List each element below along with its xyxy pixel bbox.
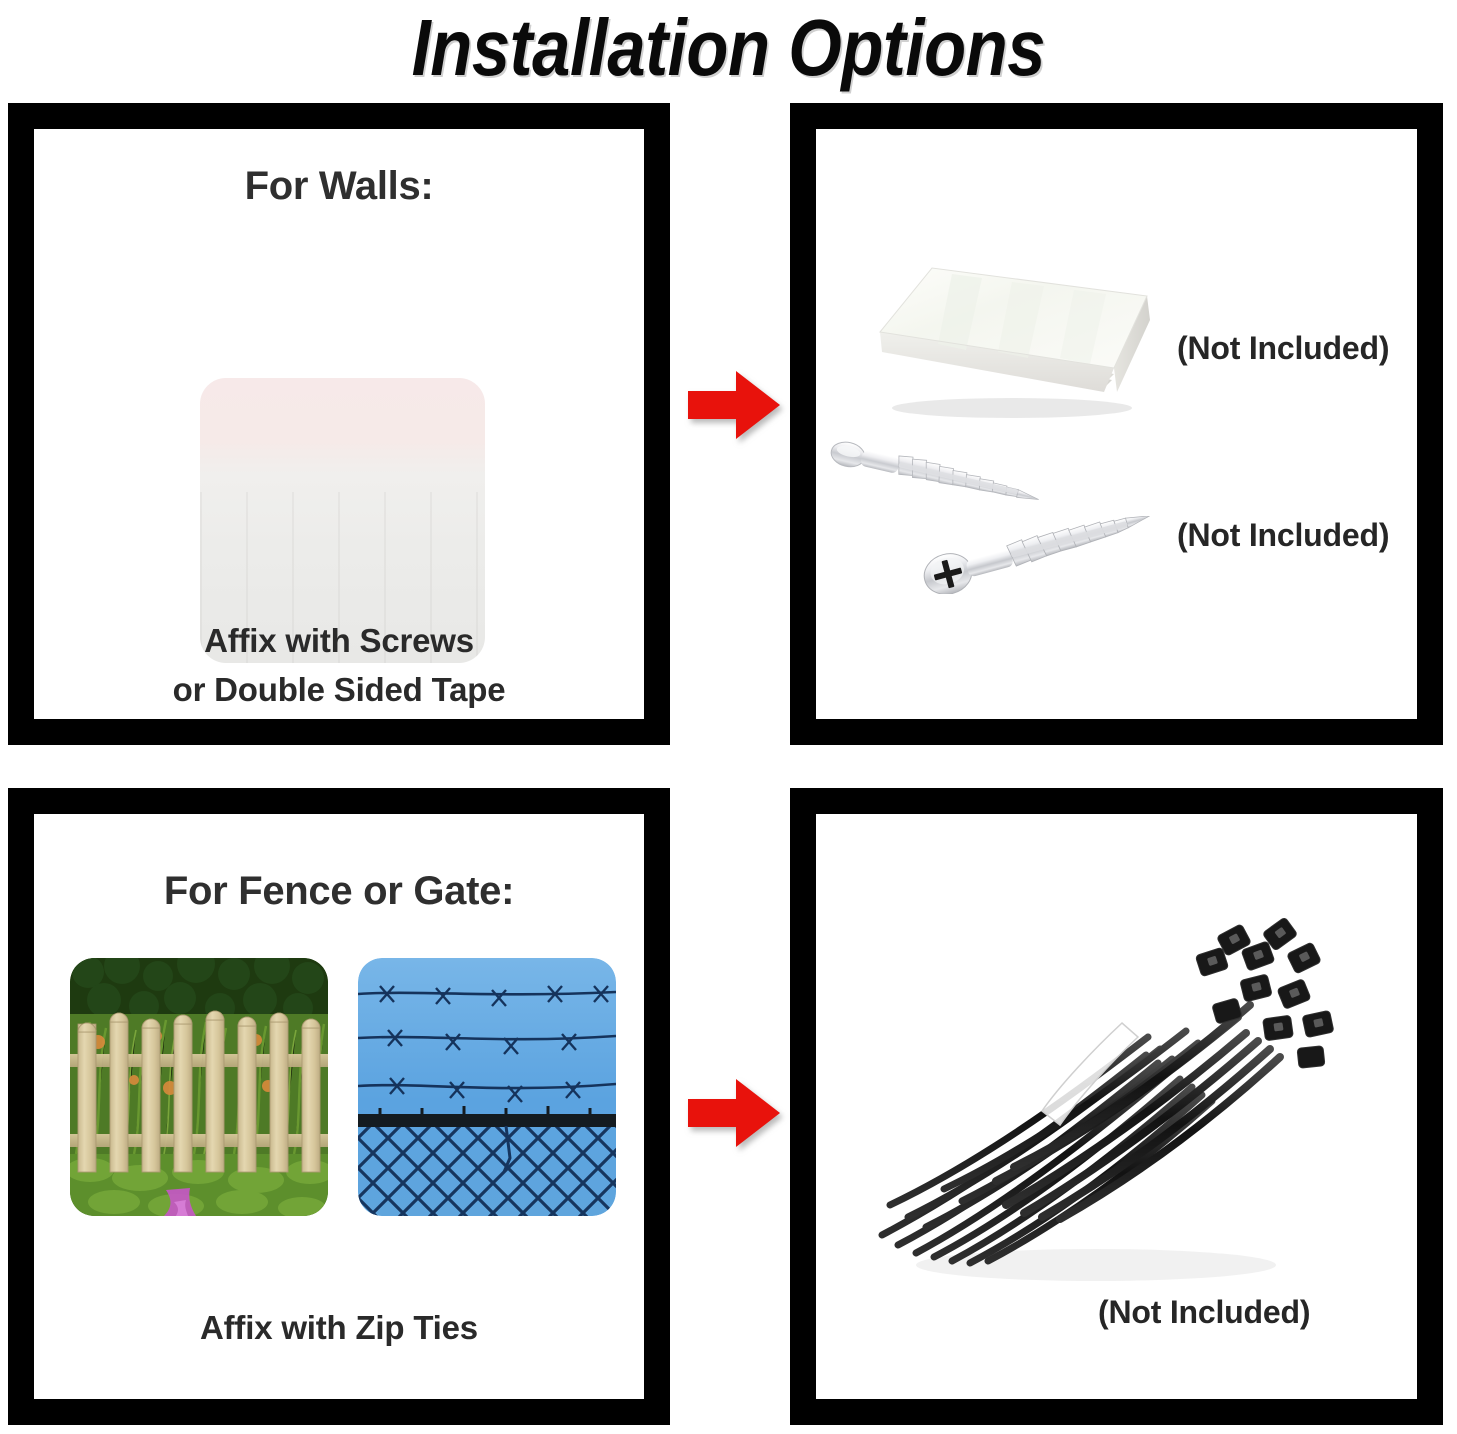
wooden-picket-fence-image: [70, 958, 328, 1216]
panel-heading-for-fence-or-gate: For Fence or Gate:: [34, 869, 644, 914]
chain-link-fence-image: [358, 958, 616, 1216]
caption-affix-with-screws: Affix with Screws: [34, 617, 644, 665]
panel-wall-hardware: [790, 103, 1443, 745]
page-title: Installation Options: [412, 8, 1046, 88]
panel-wall-hardware-content: [816, 129, 1417, 719]
panel-for-walls: For Walls: Affix with Screws or Double S…: [8, 103, 670, 745]
note-screws-not-included: (Not Included): [1177, 517, 1389, 554]
black-zip-ties-bundle-image: [846, 905, 1338, 1295]
wood-screw-phillips-image: [916, 516, 1162, 594]
note-tape-not-included: (Not Included): [1177, 330, 1389, 367]
panel-heading-for-walls: For Walls:: [34, 164, 644, 209]
page-header: Installation Options: [0, 0, 1457, 95]
wood-screw-image: [826, 436, 1064, 506]
double-sided-tape-stack-image: [862, 232, 1154, 420]
arrow-right-red-icon: [688, 369, 780, 441]
arrow-right-red-icon-2: [688, 1077, 780, 1149]
panel-for-walls-content: For Walls: Affix with Screws or Double S…: [34, 129, 644, 719]
caption-affix-with-zip-ties: Affix with Zip Ties: [34, 1304, 644, 1352]
note-zip-ties-not-included: (Not Included): [1098, 1294, 1310, 1331]
caption-or-double-sided-tape: or Double Sided Tape: [34, 666, 644, 714]
